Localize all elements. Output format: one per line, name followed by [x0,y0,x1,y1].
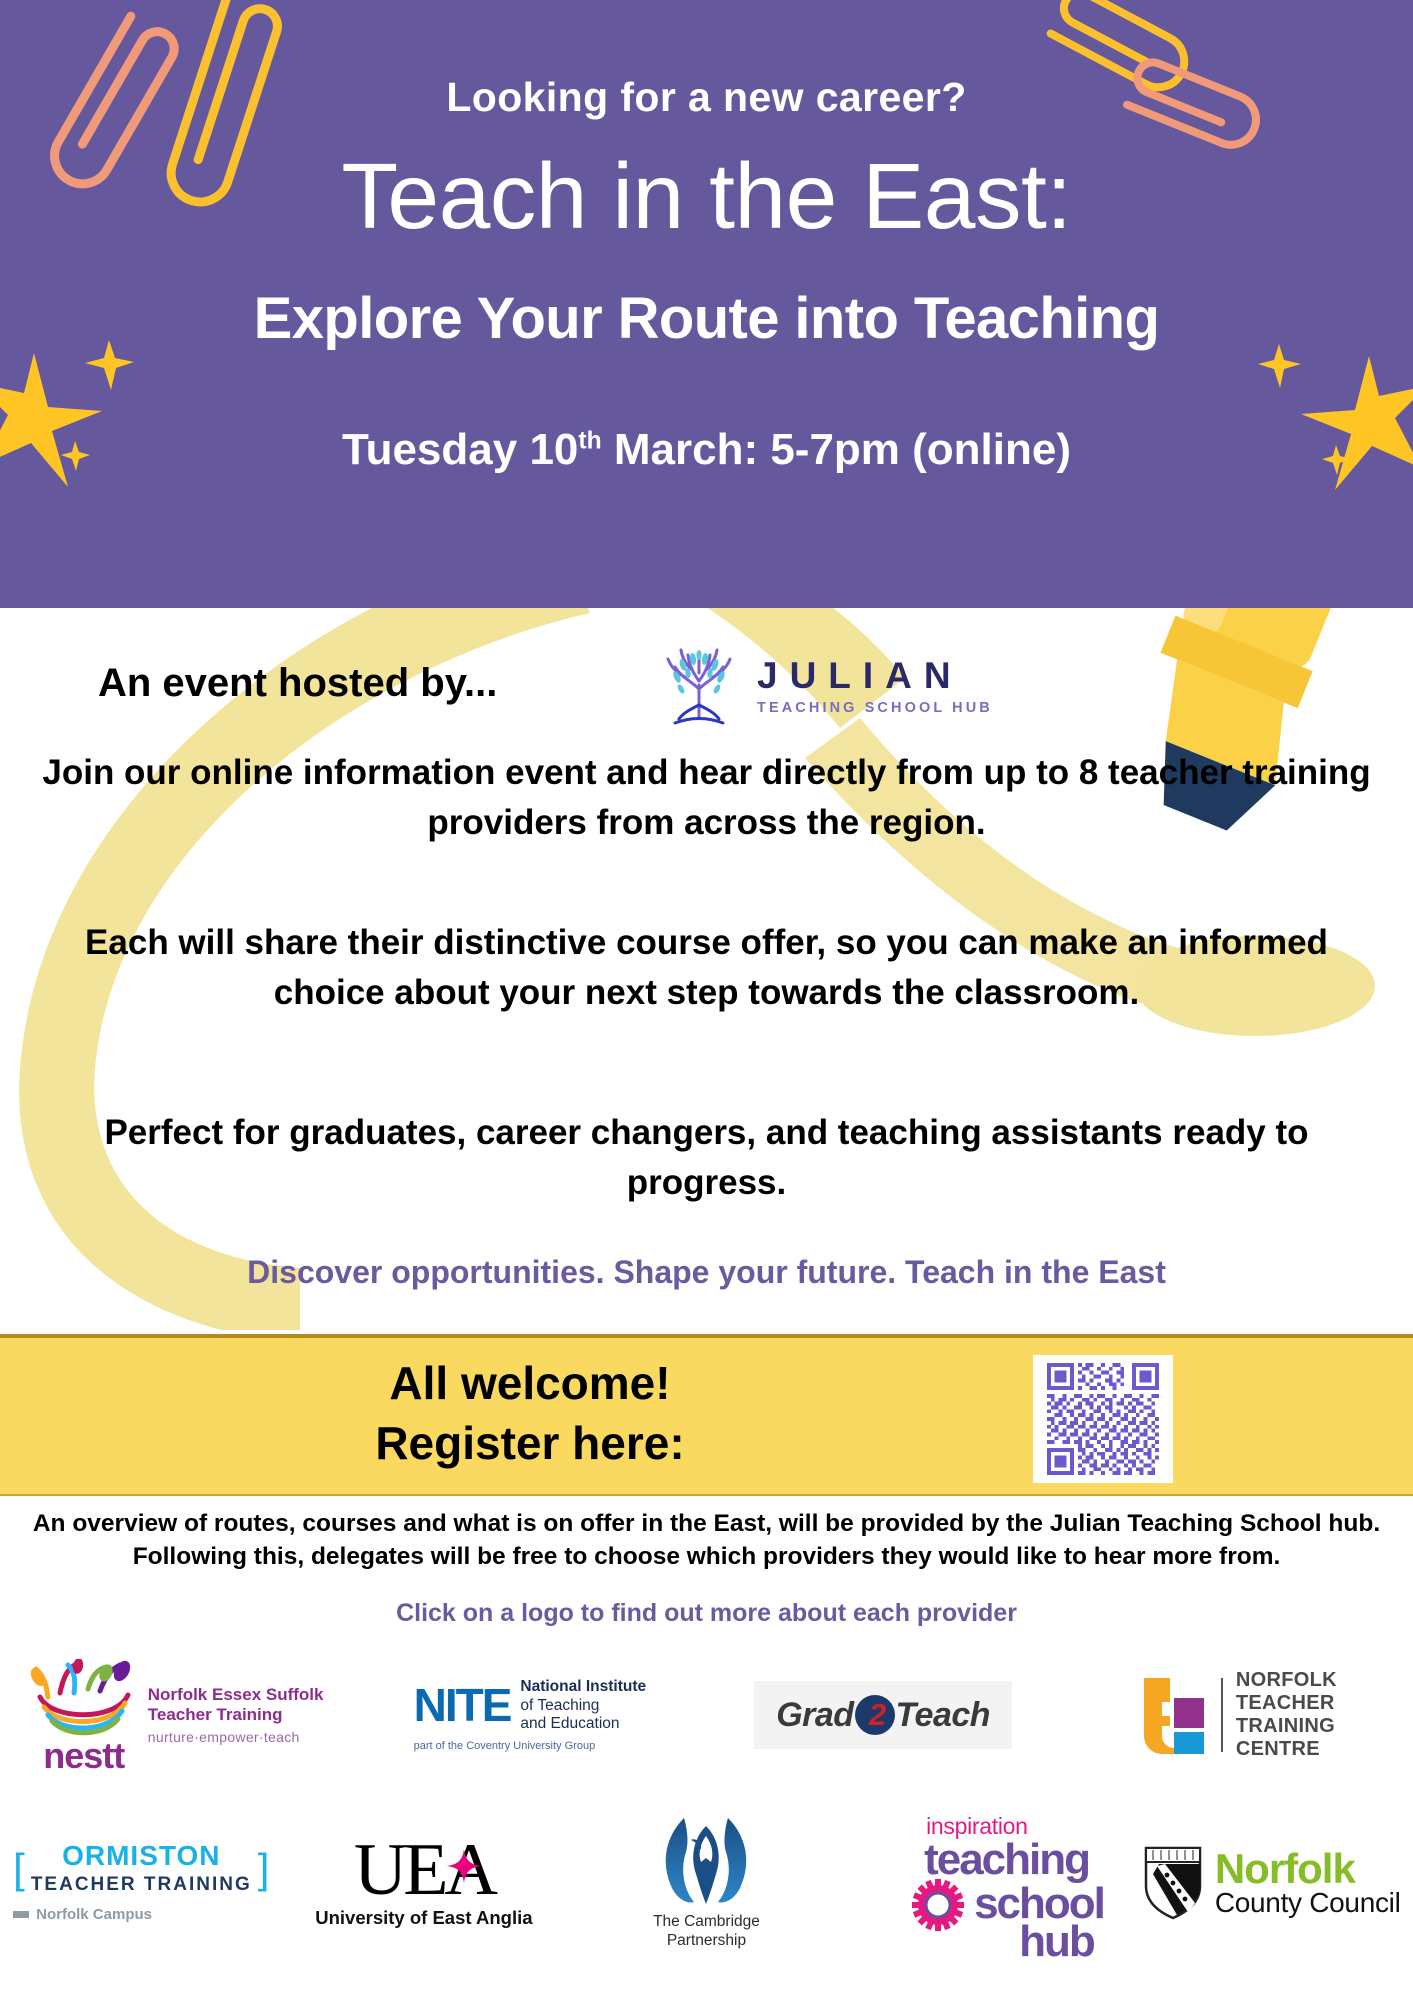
event-date-ordinal: th [578,427,601,454]
nestt-title-line2: Teacher Training [148,1705,324,1724]
ormiston-bracket-right: ] [258,1850,270,1888]
nestt-wordmark: nestt [43,1741,124,1772]
julian-logo-tagline: TEACHING SCHOOL HUB [757,700,993,716]
nttc-line1: NORFOLK [1236,1669,1337,1692]
register-call-to-action: All welcome! Register here: [0,1354,1060,1474]
grad2teach-text-after: Teach [896,1696,991,1735]
poster-tagline: Discover opportunities. Shape your futur… [0,1254,1413,1291]
qr-code-container[interactable] [1033,1355,1173,1483]
body-paragraph-2: Each will share their distinctive course… [0,918,1413,1017]
page-title: Teach in the East: [0,150,1413,243]
norfolk-crest-icon [1143,1846,1203,1920]
nttc-mark-icon [1136,1676,1208,1754]
grad2teach-text-before: Grad [776,1696,853,1735]
itsh-hub-word: hub [1019,1917,1094,1967]
nite-desc-line3: and Education [520,1715,619,1732]
ormiston-dash-icon [13,1911,29,1918]
ormiston-bracket-left: [ [13,1850,25,1888]
provider-logo-uea[interactable]: UEA University of East Anglia [283,1790,566,1975]
nttc-line3: TRAINING [1236,1715,1337,1738]
register-band: All welcome! Register here: [0,1334,1413,1496]
nestt-title-line1: Norfolk Essex Suffolk [148,1685,324,1704]
event-date-suffix: March: 5-7pm (online) [602,425,1071,474]
event-date: Tuesday 10th March: 5-7pm (online) [0,425,1413,475]
tree-icon [655,643,743,729]
overview-text: An overview of routes, courses and what … [0,1508,1413,1574]
nestt-subtitle: nurture·empower·teach [148,1729,324,1745]
cambridge-sub-line2: Partnership [653,1932,760,1951]
ormiston-subtitle: TEACHER TRAINING [31,1874,252,1896]
uea-wordmark: UEA [354,1836,494,1904]
ormiston-campus-label: Norfolk Campus [36,1906,152,1923]
page-subtitle: Explore Your Route into Teaching [0,290,1413,348]
click-logo-note: Click on a logo to find out more about e… [0,1599,1413,1628]
ncc-line2: County Council [1215,1889,1401,1917]
grad2teach-globe-icon: 2 [855,1695,895,1735]
all-welcome-line: All welcome! [0,1354,1060,1414]
provider-logo-cambridge-partnership[interactable]: The Cambridge Partnership [565,1790,848,1975]
poster-header: Looking for a new career? Teach in the E… [0,0,1413,608]
provider-logo-nestt[interactable]: nestt Norfolk Essex Suffolk Teacher Trai… [0,1645,353,1785]
provider-logo-nite[interactable]: NITE National Institute of Teaching and … [353,1645,706,1785]
grad2teach-digit: 2 [869,1699,886,1730]
body-paragraph-1: Join our online information event and he… [0,748,1413,847]
julian-teaching-school-hub-logo[interactable]: JULIAN TEACHING SCHOOL HUB [655,643,993,729]
event-date-prefix: Tuesday 10 [342,425,578,474]
provider-logo-grad2teach[interactable]: Grad 2 Teach [707,1645,1060,1785]
provider-logo-inspiration-teaching-school-hub[interactable]: inspiration teaching [848,1790,1131,1975]
ncc-line1: Norfolk [1215,1848,1401,1889]
nttc-line4: CENTRE [1236,1738,1337,1761]
ormiston-wordmark: ORMISTON [62,1842,220,1870]
header-kicker: Looking for a new career? [0,74,1413,121]
cambridge-sub-line1: The Cambridge [653,1913,760,1932]
nite-wordmark: NITE [414,1685,511,1726]
provider-logo-norfolk-county-council[interactable]: Norfolk County Council [1130,1790,1413,1975]
provider-logo-row-2: [ ORMISTON TEACHER TRAINING ] Norfolk Ca… [0,1790,1413,1975]
julian-logo-name: JULIAN [757,657,993,694]
nite-footnote: part of the Coventry University Group [414,1740,647,1752]
gear-icon [912,1879,964,1931]
nttc-line2: TEACHER [1236,1692,1337,1715]
poster-body: An event hosted by... [0,608,1413,1330]
hosted-by-label: An event hosted by... [98,661,497,706]
provider-logo-row-1: nestt Norfolk Essex Suffolk Teacher Trai… [0,1645,1413,1785]
registration-qr-code-icon[interactable] [1042,1363,1164,1475]
register-here-line: Register here: [0,1414,1060,1474]
itsh-teaching-word: teaching [924,1835,1089,1885]
hosted-by-row: An event hosted by... [0,643,1413,733]
body-paragraph-3: Perfect for graduates, career changers, … [0,1108,1413,1207]
nest-icon [30,1659,138,1741]
provider-logo-ormiston[interactable]: [ ORMISTON TEACHER TRAINING ] Norfolk Ca… [0,1790,283,1975]
nttc-divider [1221,1678,1223,1752]
nite-desc-line1: National Institute [520,1678,646,1695]
nite-desc-line2: of Teaching [520,1697,599,1714]
cambridge-shield-icon [654,1814,758,1910]
uea-star-icon [447,1849,481,1883]
provider-logo-norfolk-teacher-training-centre[interactable]: NORFOLK TEACHER TRAINING CENTRE [1060,1645,1413,1785]
